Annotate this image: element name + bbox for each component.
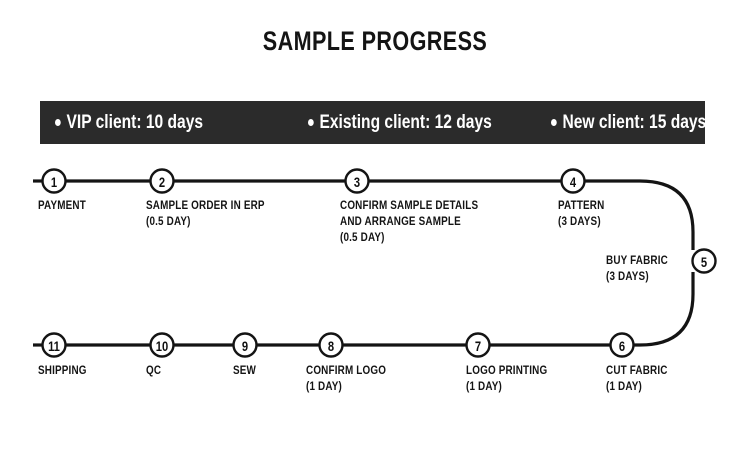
node-label-7: LOGO PRINTING [466, 363, 547, 379]
node-button-5[interactable] [691, 248, 717, 274]
node-button-11[interactable] [41, 332, 67, 358]
node-duration-8: (1 DAY) [306, 379, 342, 395]
node-label-2: SAMPLE ORDER IN ERP [146, 198, 265, 214]
node-button-8[interactable] [318, 332, 344, 358]
node-label-9: SEW [233, 363, 256, 379]
node-label-1: PAYMENT [38, 198, 86, 214]
node-button-6[interactable] [609, 332, 635, 358]
node-duration-7: (1 DAY) [466, 379, 502, 395]
node-label-4: PATTERN [558, 198, 604, 214]
node-button-2[interactable] [149, 168, 175, 194]
node-label-10: QC [146, 363, 161, 379]
node-label-11: SHIPPING [38, 363, 87, 379]
node-label-5: BUY FABRIC [606, 253, 668, 269]
node-duration-3: (0.5 DAY) [340, 230, 385, 246]
node-button-1[interactable] [41, 168, 67, 194]
node-button-7[interactable] [465, 332, 491, 358]
node-duration-5: (3 DAYS) [606, 269, 649, 285]
node-duration-6: (1 DAY) [606, 379, 642, 395]
node-button-10[interactable] [149, 332, 175, 358]
node-duration-2: (0.5 DAY) [146, 214, 191, 230]
node-label-3: CONFIRM SAMPLE DETAILS AND ARRANGE SAMPL… [340, 198, 478, 230]
node-button-9[interactable] [232, 332, 258, 358]
node-button-3[interactable] [344, 168, 370, 194]
node-button-4[interactable] [560, 168, 586, 194]
node-label-8: CONFIRM LOGO [306, 363, 386, 379]
sample-progress-infographic: SAMPLE PROGRESS VIP client: 10 days Exis… [0, 0, 750, 449]
node-duration-4: (3 DAYS) [558, 214, 601, 230]
node-label-6: CUT FABRIC [606, 363, 668, 379]
